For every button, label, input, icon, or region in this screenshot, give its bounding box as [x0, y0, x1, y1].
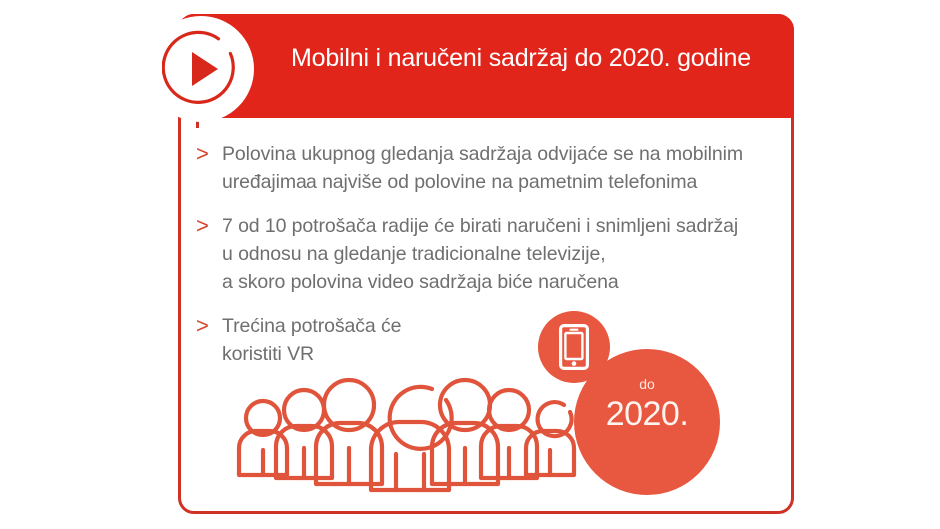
- bullet-line: koristiti VR: [222, 340, 786, 368]
- list-item: > 7 od 10 potrošača radije će birati nar…: [196, 212, 786, 296]
- list-item-text: Polovina ukupnog gledanja sadržaja odvij…: [222, 140, 786, 196]
- list-item: > Trećina potrošača će koristiti VR: [196, 312, 786, 368]
- bullet-line: a najviše od polovine na pametnim telefo…: [306, 168, 697, 196]
- smartphone-icon: [559, 324, 589, 370]
- bullet-list: > Polovina ukupnog gledanja sadržaja odv…: [196, 140, 786, 384]
- list-item-text: Trećina potrošača će koristiti VR: [222, 312, 786, 368]
- card-header-band: Mobilni i naručeni sadržaj do 2020. godi…: [178, 14, 794, 118]
- bullet-line-overlap: uređajima a najviše od polovine na pamet…: [222, 168, 786, 196]
- bullet-line: 7 od 10 potrošača radije će birati naruč…: [222, 212, 786, 240]
- list-item-text: 7 od 10 potrošača radije će birati naruč…: [222, 212, 786, 296]
- bullet-line: Polovina ukupnog gledanja sadržaja odvij…: [222, 140, 786, 168]
- chevron-right-icon: >: [196, 312, 209, 340]
- chevron-right-icon: >: [196, 140, 209, 168]
- bullet-line: u odnosu na gledanje tradicionalne telev…: [222, 240, 786, 268]
- people-group-icon: [234, 374, 578, 496]
- year-badge-value: 2020.: [574, 393, 720, 435]
- play-circle-icon: [148, 16, 254, 122]
- year-badge-label: do: [574, 376, 720, 392]
- infographic-canvas: Mobilni i naručeni sadržaj do 2020. godi…: [0, 0, 940, 529]
- list-item: > Polovina ukupnog gledanja sadržaja odv…: [196, 140, 786, 196]
- bullet-line: uređajima: [222, 168, 307, 196]
- phone-badge: [538, 311, 610, 383]
- bullet-line: Trećina potrošača će: [222, 312, 786, 340]
- page-title: Mobilni i naručeni sadržaj do 2020. godi…: [291, 42, 771, 74]
- play-ring-icon: [162, 30, 240, 108]
- bullet-line: a skoro polovina video sadržaja biće nar…: [222, 268, 786, 296]
- chevron-right-icon: >: [196, 212, 209, 240]
